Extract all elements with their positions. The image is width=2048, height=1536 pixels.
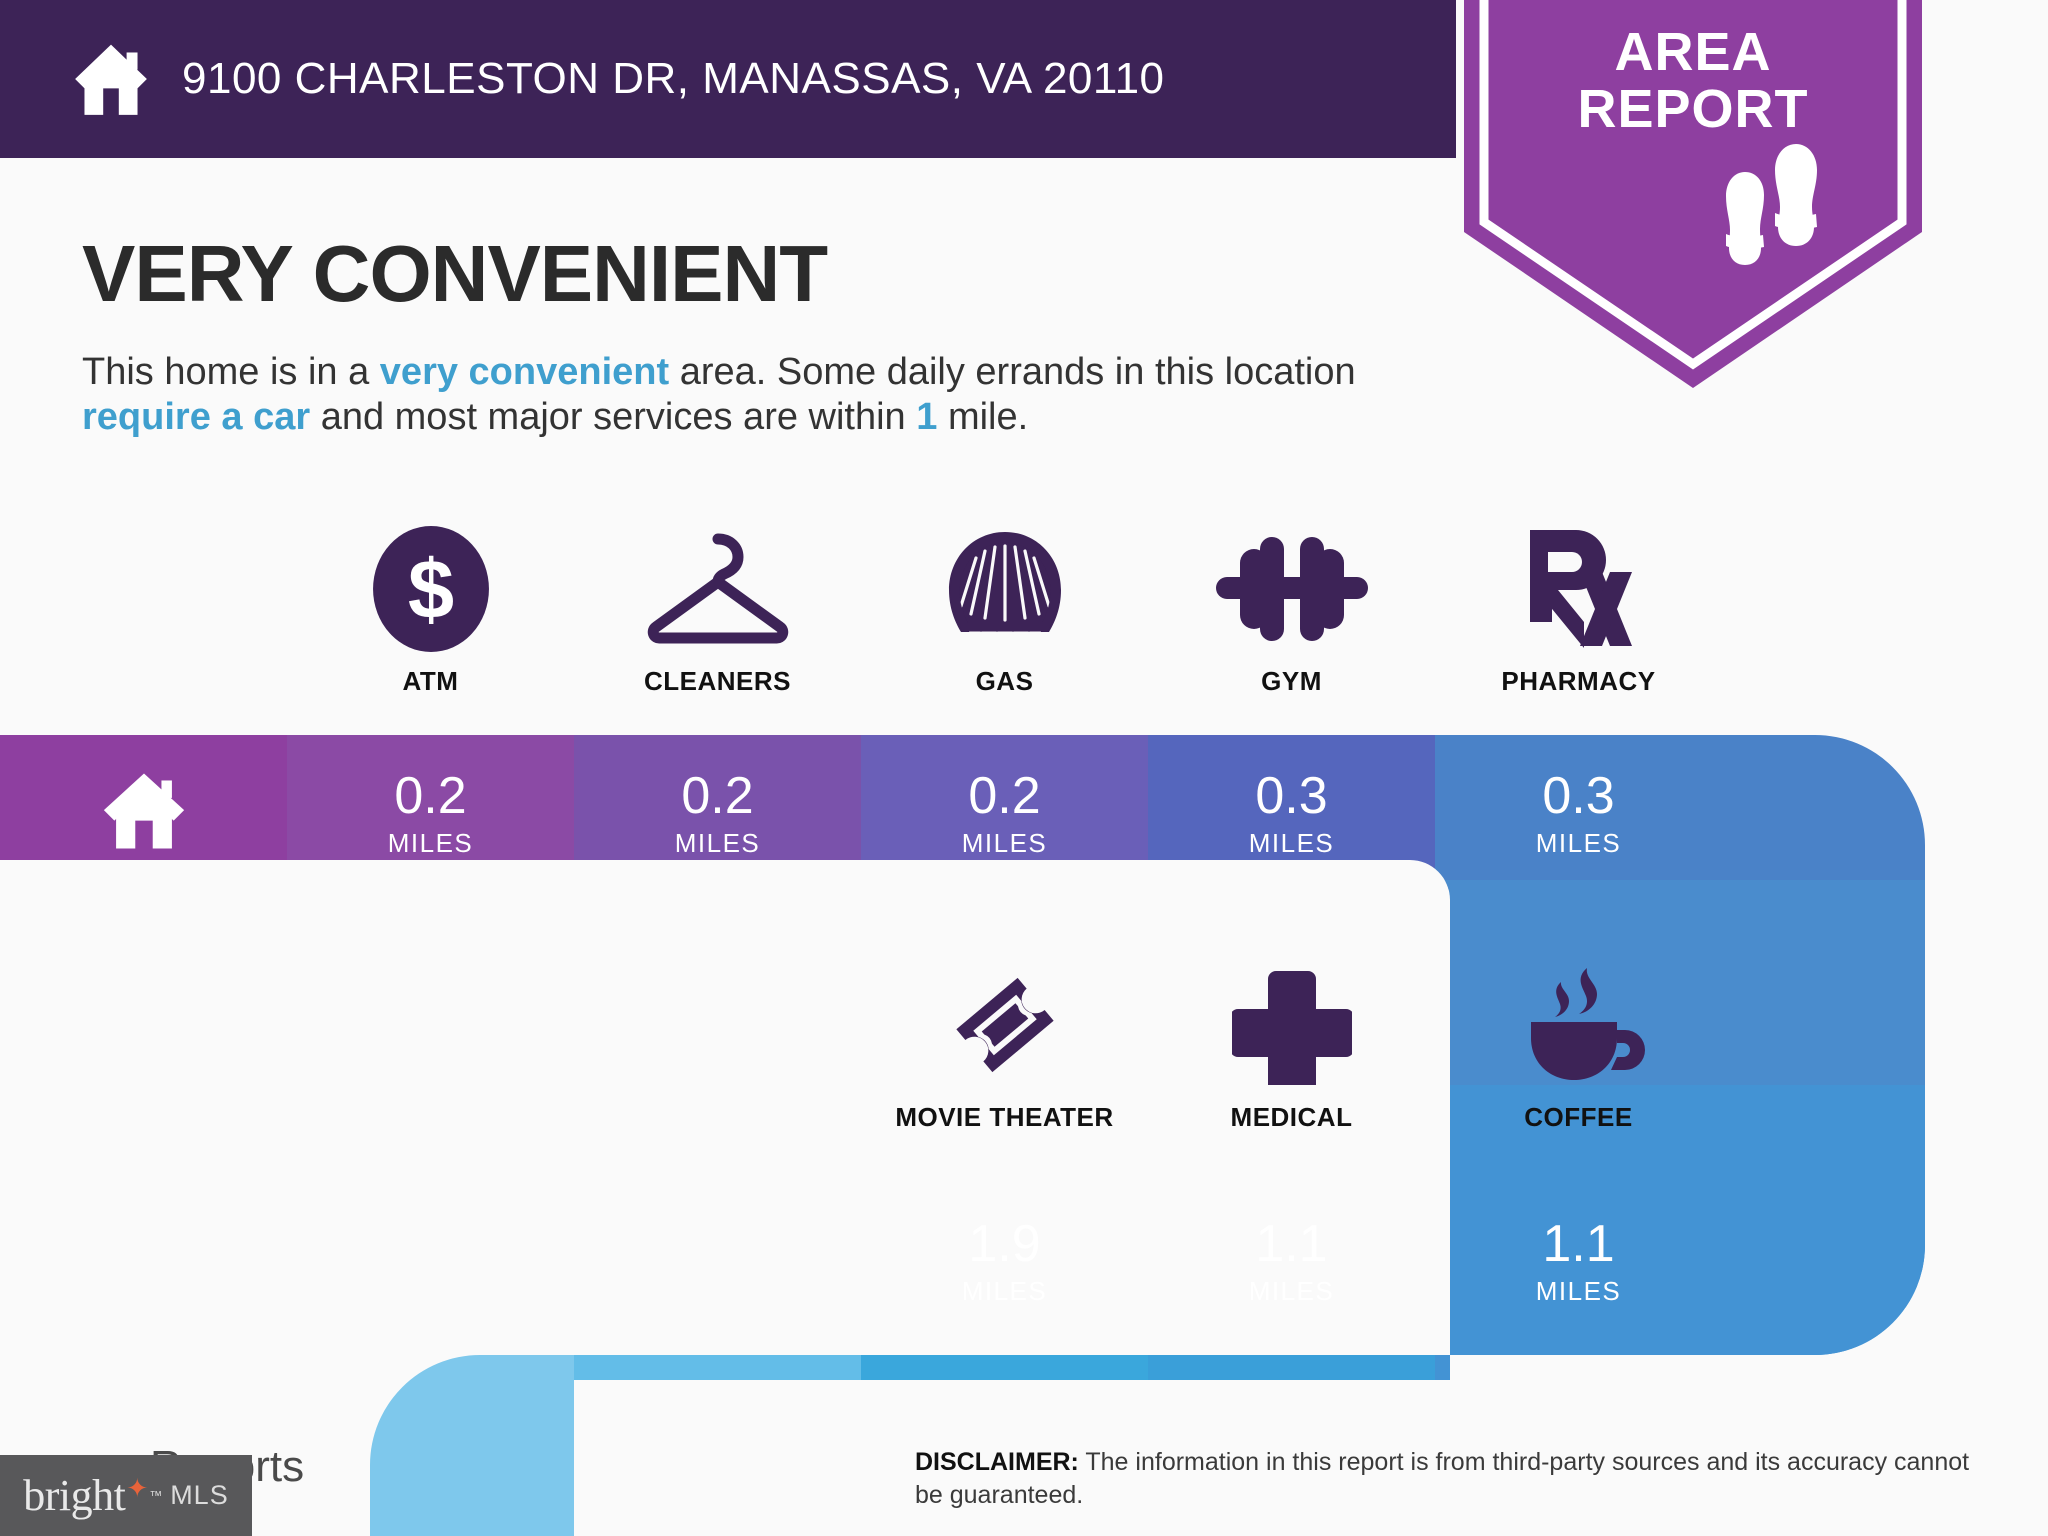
- category-coffee[interactable]: COFFEE: [1435, 960, 1722, 1133]
- hanger-icon: [638, 524, 798, 654]
- distance-pharmacy: 0.3 MILES: [1435, 770, 1722, 859]
- shell-icon: [945, 524, 1065, 654]
- blurb-part2: area. Some daily errands in this locatio…: [669, 351, 1355, 393]
- category-medical[interactable]: MEDICAL: [1148, 960, 1435, 1133]
- blurb-part4: mile.: [937, 396, 1028, 438]
- blurb-part1: This home is in a: [82, 351, 380, 393]
- distance-unit: MILES: [574, 828, 861, 859]
- watermark-tm: ™: [149, 1488, 162, 1503]
- category-label: PHARMACY: [1501, 666, 1655, 697]
- watermark-suffix: MLS: [170, 1480, 229, 1511]
- rx-icon: [1520, 524, 1638, 654]
- distance-movie-theater: 1.9 MILES: [861, 1218, 1148, 1307]
- blurb-part3: and most major services are within: [310, 396, 916, 438]
- distance-cleaners: 0.2 MILES: [574, 770, 861, 859]
- distance-unit: MILES: [1435, 828, 1722, 859]
- svg-text:$: $: [407, 543, 453, 636]
- category-label: GYM: [1261, 666, 1322, 697]
- category-label: GAS: [976, 666, 1034, 697]
- category-gym[interactable]: GYM: [1148, 524, 1435, 697]
- ribbon-home-icon: [64, 770, 224, 857]
- star-icon: ✦: [126, 1473, 148, 1504]
- category-cleaners[interactable]: CLEANERS: [574, 524, 861, 697]
- cross-icon: [1232, 960, 1352, 1090]
- category-label: MOVIE THEATER: [895, 1102, 1113, 1133]
- blurb-highlight-miles: 1: [916, 396, 937, 438]
- category-label: COFFEE: [1524, 1102, 1632, 1133]
- summary-text: This home is in a very convenient area. …: [82, 350, 1442, 440]
- category-label: MEDICAL: [1231, 1102, 1353, 1133]
- distance-value: 1.1: [1148, 1218, 1435, 1270]
- ribbon-seg-blank-1: [300, 1180, 574, 1536]
- distance-value: 0.2: [861, 770, 1148, 822]
- ribbon-seg-blank-2: [574, 1180, 861, 1380]
- distance-value: 0.3: [1148, 770, 1435, 822]
- header-bar: 9100 CHARLESTON DR, MANASSAS, VA 20110: [0, 0, 1456, 158]
- distance-value: 1.9: [861, 1218, 1148, 1270]
- area-report-badge: AREA REPORT: [1458, 0, 1928, 394]
- distance-medical: 1.1 MILES: [1148, 1218, 1435, 1307]
- dollar-circle-icon: $: [368, 524, 494, 654]
- distance-value: 0.3: [1435, 770, 1722, 822]
- bright-mls-watermark: bright✦™MLS: [0, 1455, 252, 1536]
- home-icon: [72, 40, 150, 118]
- distance-unit: MILES: [1148, 828, 1435, 859]
- blurb-highlight-car: require a car: [82, 396, 310, 438]
- distance-unit: MILES: [1435, 1276, 1722, 1307]
- category-movie-theater[interactable]: MOVIE THEATER: [861, 960, 1148, 1133]
- icon-row-primary: $ ATM CLEANERS: [287, 524, 1722, 697]
- distance-atm: 0.2 MILES: [287, 770, 574, 859]
- disclaimer-label: DISCLAIMER:: [915, 1448, 1079, 1476]
- category-gas[interactable]: GAS: [861, 524, 1148, 697]
- property-address: 9100 CHARLESTON DR, MANASSAS, VA 20110: [182, 54, 1165, 104]
- distance-gas: 0.2 MILES: [861, 770, 1148, 859]
- distance-value: 0.2: [574, 770, 861, 822]
- coffee-icon: [1513, 960, 1645, 1090]
- distance-unit: MILES: [861, 828, 1148, 859]
- distance-unit: MILES: [287, 828, 574, 859]
- distance-value: 0.2: [287, 770, 574, 822]
- icon-row-secondary: MOVIE THEATER MEDICAL COFFEE: [861, 960, 1722, 1133]
- blurb-highlight-convenience: very convenient: [380, 351, 669, 393]
- watermark-brand: bright: [23, 1470, 125, 1521]
- distance-coffee: 1.1 MILES: [1435, 1218, 1722, 1307]
- page-title: VERY CONVENIENT: [82, 228, 827, 320]
- distance-unit: MILES: [1148, 1276, 1435, 1307]
- distance-value: 1.1: [1435, 1218, 1722, 1270]
- dumbbell-icon: [1212, 524, 1372, 654]
- distance-unit: MILES: [861, 1276, 1148, 1307]
- ticket-icon: [941, 960, 1069, 1090]
- category-label: CLEANERS: [644, 666, 791, 697]
- category-atm[interactable]: $ ATM: [287, 524, 574, 697]
- category-label: ATM: [403, 666, 459, 697]
- disclaimer: DISCLAIMER: The information in this repo…: [915, 1446, 1975, 1512]
- distance-gym: 0.3 MILES: [1148, 770, 1435, 859]
- category-pharmacy[interactable]: PHARMACY: [1435, 524, 1722, 697]
